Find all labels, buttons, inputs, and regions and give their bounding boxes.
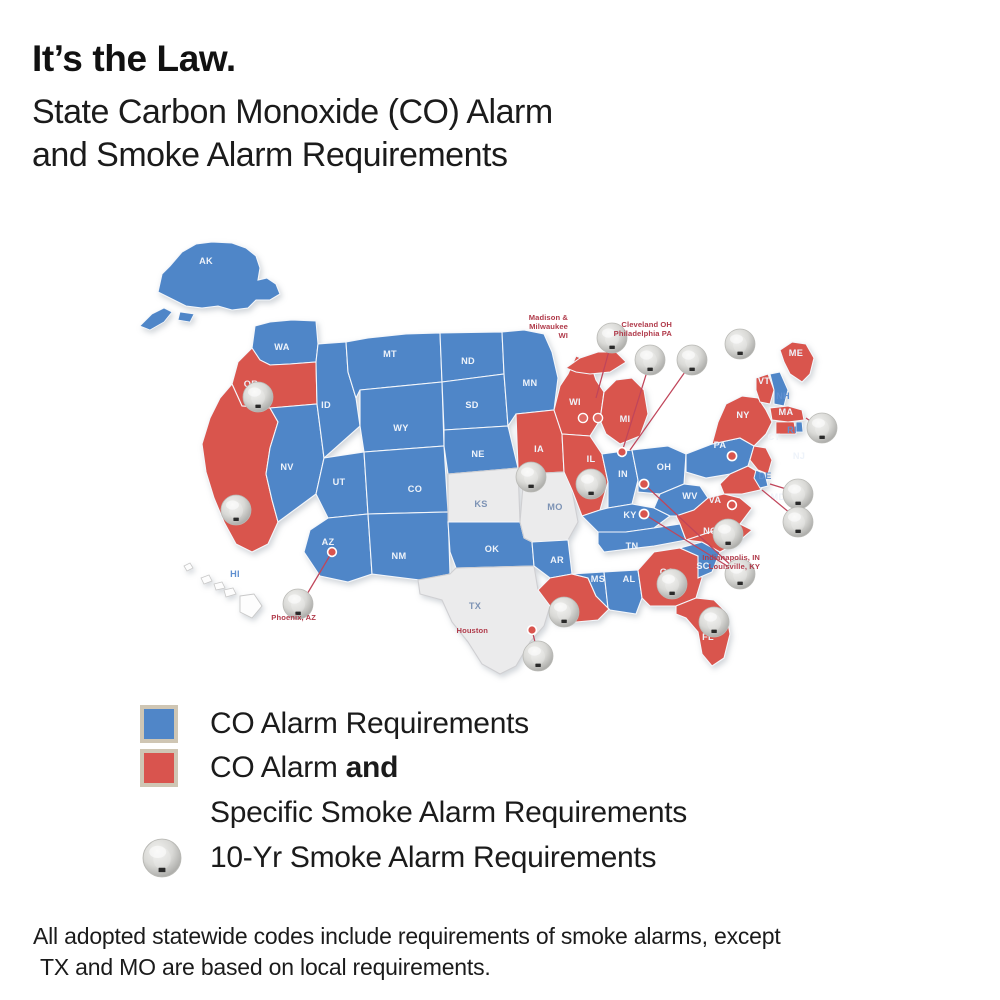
- state-IN: [602, 450, 638, 508]
- state-label-AK: AK: [199, 256, 213, 266]
- dot-indianapolis: [640, 480, 648, 488]
- legend-item-co-alarm: CO Alarm Requirements: [140, 702, 960, 746]
- state-CO: [364, 446, 448, 514]
- state-label-MN: MN: [523, 378, 538, 388]
- state-MI-up: [566, 352, 626, 374]
- smoke-alarm-icon-nj: [783, 479, 813, 509]
- state-label-SD: SD: [465, 400, 478, 410]
- state-KS: [448, 468, 520, 522]
- state-label-WI: WI: [569, 397, 581, 407]
- smoke-alarm-icon-il: [576, 469, 606, 499]
- dot-louisville: [640, 510, 648, 518]
- smoke-alarm-icon-houston: [523, 641, 553, 671]
- state-NY: [712, 396, 772, 446]
- dot-philadelphia: [728, 452, 736, 460]
- smoke-alarm-icon-or: [243, 382, 273, 412]
- state-label-DE: DE: [758, 471, 771, 481]
- state-label-IL: IL: [587, 454, 596, 464]
- state-label-NY: NY: [736, 410, 749, 420]
- state-label-KY: KY: [623, 510, 636, 520]
- state-label-OK: OK: [485, 544, 499, 554]
- state-label-VA: VA: [709, 495, 722, 505]
- legend-label-10yr-smoke: 10-Yr Smoke Alarm Requirements: [210, 841, 656, 876]
- state-label-MI: MI: [620, 414, 631, 424]
- smoke-alarm-icon-ia: [516, 462, 546, 492]
- state-NM: [368, 512, 450, 580]
- state-label-CO: CO: [408, 484, 422, 494]
- state-label-RI: RI: [787, 425, 797, 435]
- state-label-IN: IN: [618, 469, 628, 479]
- state-label-UT: UT: [333, 477, 346, 487]
- state-label-TN: TN: [626, 541, 639, 551]
- state-label-WV: WV: [682, 491, 698, 501]
- dot-virginia: [728, 501, 735, 508]
- smoke-alarm-icon-ga: [657, 569, 687, 599]
- smoke-alarm-icon-la: [549, 597, 579, 627]
- state-label-NH: NH: [776, 391, 790, 401]
- footnote-line-2: TX and MO are based on local requirement…: [33, 952, 963, 983]
- state-label-OH: OH: [657, 462, 671, 472]
- smoke-alarm-icon-nc: [713, 519, 743, 549]
- page-title: It’s the Law.: [32, 40, 932, 79]
- state-label-MO: MO: [547, 502, 562, 512]
- us-map: AKHIWAORCANVIDUTAZMTWYCONMNDSDNEKSOKTXMN…: [120, 222, 890, 702]
- footnote-line-1: All adopted statewide codes include requ…: [33, 921, 963, 952]
- state-label-NV: NV: [280, 462, 294, 472]
- state-AZ: [304, 514, 372, 582]
- legend-label-co-alarm-and-prefix: CO Alarm: [210, 751, 346, 784]
- state-label-MA: MA: [779, 407, 794, 417]
- page-subtitle-line-2: and Smoke Alarm Requirements: [32, 134, 932, 178]
- state-label-ID: ID: [321, 400, 331, 410]
- state-label-ME: ME: [789, 348, 803, 358]
- legend-item-specific-smoke: Specific Smoke Alarm Requirements: [140, 790, 960, 836]
- state-label-MS: MS: [591, 574, 605, 584]
- smoke-alarm-icon-ne-callout: [725, 329, 755, 359]
- page-header: It’s the Law. State Carbon Monoxide (CO)…: [32, 40, 932, 178]
- state-label-WA: WA: [274, 342, 289, 352]
- state-label-TX: TX: [469, 601, 482, 611]
- state-label-MT: MT: [383, 349, 397, 359]
- dot-houston: [528, 626, 535, 633]
- smoke-alarm-icon-fl: [699, 607, 729, 637]
- state-label-AZ: AZ: [322, 537, 335, 547]
- legend-item-10yr-smoke: 10-Yr Smoke Alarm Requirements: [140, 836, 960, 880]
- cleveland-philadelphia-callout: Cleveland OHPhiladelphia PA: [614, 320, 673, 338]
- state-WY: [360, 382, 444, 452]
- smoke-alarm-icon-oh-callout: [635, 345, 665, 375]
- smoke-alarm-icon-pa-callout: [677, 345, 707, 375]
- state-label-AR: AR: [550, 555, 564, 565]
- state-label-NJ: NJ: [793, 451, 805, 461]
- blue-square-swatch: [140, 705, 178, 743]
- smoke-alarm-icon: [140, 836, 184, 880]
- legend-label-co-alarm: CO Alarm Requirements: [210, 707, 529, 742]
- legend-item-co-and-smoke: CO Alarm and: [140, 746, 960, 790]
- state-label-SC: SC: [696, 561, 709, 571]
- state-label-VT: VT: [758, 376, 770, 386]
- state-HI: [184, 563, 262, 618]
- smoke-alarm-icon-ma: [807, 413, 837, 443]
- state-RI: [796, 422, 803, 432]
- state-label-AL: AL: [623, 574, 636, 584]
- state-label-CT: CT: [768, 432, 781, 442]
- legend-label-specific-smoke: Specific Smoke Alarm Requirements: [210, 796, 687, 831]
- indianapolis-louisville-callout: Indianapolis, INLouisville, KY: [702, 553, 760, 571]
- us-map-svg: AKHIWAORCANVIDUTAZMTWYCONMNDSDNEKSOKTXMN…: [120, 222, 890, 702]
- map-legend: CO Alarm Requirements CO Alarm and Speci…: [140, 702, 960, 880]
- page-subtitle-line-1: State Carbon Monoxide (CO) Alarm: [32, 91, 932, 135]
- state-label-NE: NE: [471, 449, 484, 459]
- smoke-alarm-icon-md: [783, 507, 813, 537]
- state-label-IA: IA: [534, 444, 544, 454]
- state-label-PA: PA: [714, 440, 727, 450]
- dot-phoenix: [328, 548, 335, 555]
- state-label-KS: KS: [474, 499, 487, 509]
- state-label-NM: NM: [392, 551, 407, 561]
- state-label-HI: HI: [230, 569, 240, 579]
- state-label-WY: WY: [393, 423, 408, 433]
- phoenix-callout: Phoenix, AZ: [271, 613, 316, 622]
- state-label-ND: ND: [461, 356, 475, 366]
- red-square-swatch: [140, 749, 178, 787]
- smoke-alarm-icon-ca: [221, 495, 251, 525]
- dot-cleveland: [618, 448, 625, 455]
- houston-callout: Houston: [457, 626, 489, 635]
- footnote: All adopted statewide codes include requ…: [33, 921, 963, 984]
- legend-label-and: and: [346, 751, 398, 784]
